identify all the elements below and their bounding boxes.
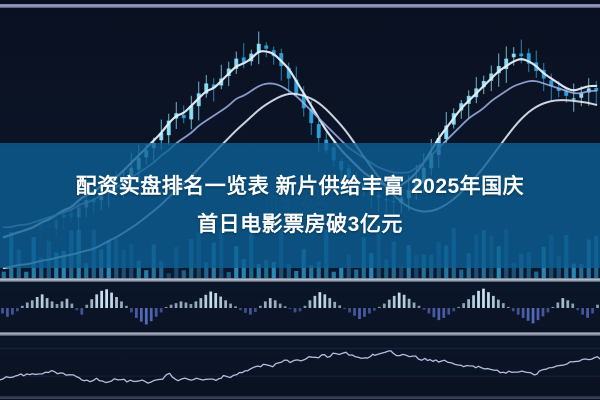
macd-histogram-panel — [0, 282, 600, 334]
indicator-line-panel — [0, 337, 600, 400]
macd-bars — [1, 289, 599, 325]
title-overlay-band: 配资实盘排名一览表 新片供给丰富 2025年国庆 首日电影票房破3亿元 — [0, 143, 600, 268]
indicator-line-svg — [0, 337, 600, 400]
stock-chart-banner: 财经 配资实盘排名一览表 新片供给丰富 2025年国庆 首日电影票房破3亿元 — [0, 0, 600, 400]
headline-line-1: 配资实盘排名一览表 新片供给丰富 2025年国庆 — [76, 168, 524, 206]
indicator-line-series — [0, 351, 600, 383]
macd-histogram-svg — [0, 282, 600, 334]
headline-line-2: 首日电影票房破3亿元 — [197, 206, 403, 244]
